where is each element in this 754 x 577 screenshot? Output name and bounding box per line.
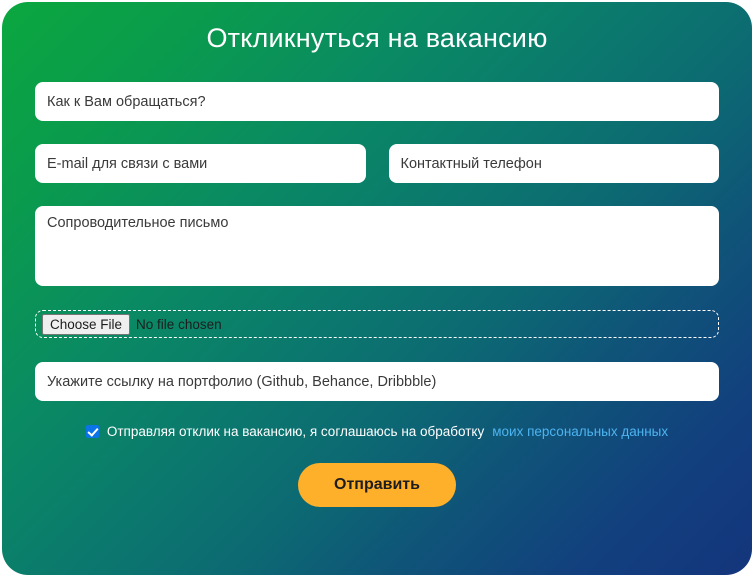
phone-input[interactable]: [389, 144, 720, 183]
email-input[interactable]: [35, 144, 366, 183]
name-input[interactable]: [35, 82, 719, 121]
choose-file-button[interactable]: Choose File: [42, 314, 130, 335]
page-title: Откликнуться на вакансию: [2, 2, 752, 54]
file-upload-field[interactable]: Choose File No file chosen: [35, 310, 719, 338]
submit-wrap: Отправить: [35, 463, 719, 507]
form-body: Choose File No file chosen Отправляя отк…: [2, 82, 752, 507]
file-input-control[interactable]: Choose File No file chosen: [42, 314, 222, 335]
portfolio-wrap: [35, 362, 719, 401]
consent-checkbox[interactable]: [86, 425, 99, 438]
consent-label: Отправляя отклик на вакансию, я соглашаю…: [107, 424, 484, 439]
page-root: Откликнуться на вакансию Choose File No …: [0, 0, 754, 577]
submit-button[interactable]: Отправить: [298, 463, 456, 507]
contact-row: [35, 144, 719, 183]
personal-data-link[interactable]: моих персональных данных: [492, 424, 668, 439]
application-form-card: Откликнуться на вакансию Choose File No …: [2, 2, 752, 575]
portfolio-input[interactable]: [35, 362, 719, 401]
cover-letter-textarea[interactable]: [35, 206, 719, 286]
file-status-label: No file chosen: [136, 317, 222, 332]
cover-letter-wrap: [35, 206, 719, 286]
consent-row: Отправляя отклик на вакансию, я соглашаю…: [35, 424, 719, 439]
